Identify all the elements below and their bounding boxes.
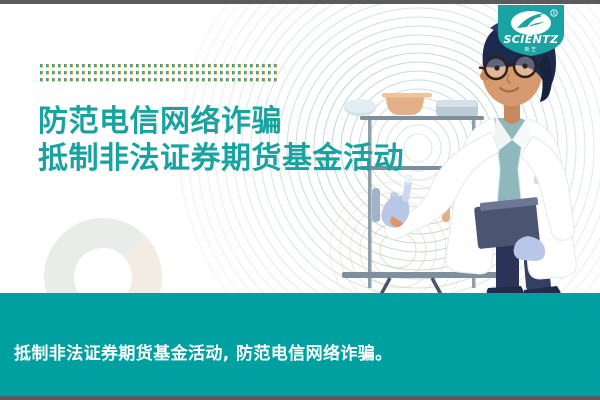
page-title: 防范电信网络诈骗 抵制非法证券期货基金活动 [38, 104, 404, 177]
logo-wordmark: SCIENTZ [503, 33, 559, 46]
scientist-figure [382, 19, 577, 299]
poster-canvas: 防范电信网络诈骗 抵制非法证券期货基金活动 抵制非法证券期货基金活动, 防范电信… [0, 0, 600, 400]
dot-grid-decoration [40, 64, 280, 86]
bottom-banner: 抵制非法证券期货基金活动, 防范电信网络诈骗。 [0, 293, 600, 396]
scientz-logo[interactable]: R SCIENTZ 新芝 [495, 2, 567, 58]
bottom-chrome-bar [0, 396, 600, 400]
svg-text:R: R [553, 11, 556, 16]
banner-slogan: 抵制非法证券期货基金活动, 防范电信网络诈骗。 [14, 339, 393, 364]
headline-line-2: 抵制非法证券期货基金活动 [38, 141, 404, 178]
logo-sub-chinese: 新芝 [524, 46, 537, 53]
headline-line-1: 防范电信网络诈骗 [38, 104, 404, 141]
